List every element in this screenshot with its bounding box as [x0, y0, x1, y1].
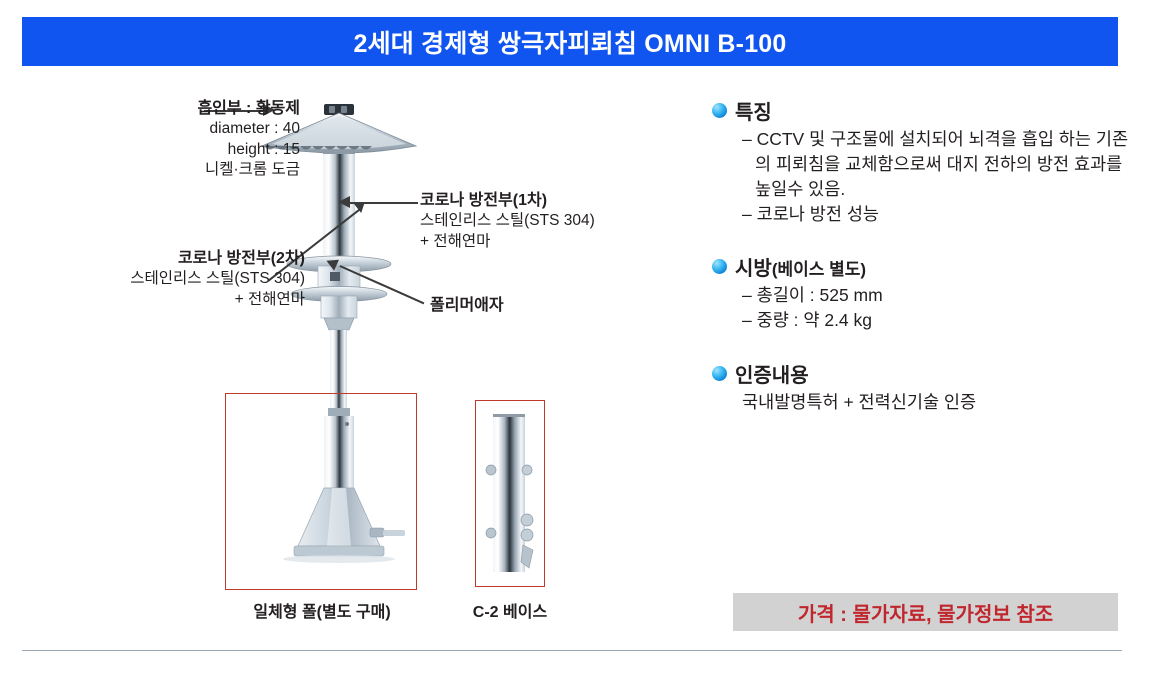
price-text: 가격 : 물가자료, 물가정보 참조: [798, 598, 1053, 627]
page-title-banner: 2세대 경제형 쌍극자피뢰침 OMNI B-100: [22, 17, 1118, 66]
spec-line: – 중량 : 약 2.4 kg: [742, 308, 1132, 333]
annotation-suction-head-line4: 니켈·크롬 도금: [85, 160, 300, 180]
annotation-corona-secondary-line3: + 전해연마: [65, 290, 305, 310]
spec-title-certification: 인증내용: [735, 359, 809, 388]
product-diagram: 흡인부 : 황동제 diameter : 40 height : 15 니켈·크…: [20, 80, 680, 640]
bullet-sphere-icon: [712, 366, 727, 381]
annotation-corona-secondary-lead: 코로나 방전부(2차): [65, 248, 305, 269]
spec-line: – 총길이 : 525 mm: [742, 283, 1132, 308]
bullet-sphere-icon: [712, 103, 727, 118]
arrowhead-corona1: [338, 196, 350, 208]
spec-title-main: 시방: [735, 258, 772, 280]
spec-line: – CCTV 및 구조물에 설치되어 뇌격을 흡입 하는 기존의 피뢰침을 교체…: [742, 127, 1132, 202]
spec-head-features: 특징: [712, 96, 1132, 125]
annotation-suction-head-line2: diameter : 40: [85, 119, 300, 139]
base-highlight-frame: [475, 400, 545, 587]
annotation-corona-primary: 코로나 방전부(1차) 스테인리스 스틸(STS 304) + 전해연마: [420, 190, 660, 252]
spec-column: 특징 – CCTV 및 구조물에 설치되어 뇌격을 흡입 하는 기존의 피뢰침을…: [712, 96, 1132, 441]
pole-highlight-frame: [225, 393, 417, 590]
spec-line: – 코로나 방전 성능: [742, 202, 1132, 227]
spec-title-specifications: 시방(베이스 별도): [735, 252, 866, 281]
annotation-suction-head-line3: height : 15: [85, 140, 300, 160]
leader-line-corona1: [350, 202, 418, 204]
price-banner: 가격 : 물가자료, 물가정보 참조: [733, 593, 1118, 631]
spec-lines-features: – CCTV 및 구조물에 설치되어 뇌격을 흡입 하는 기존의 피뢰침을 교체…: [742, 127, 1132, 226]
spec-block-specifications: 시방(베이스 별도) – 총길이 : 525 mm – 중량 : 약 2.4 k…: [712, 252, 1132, 333]
spec-block-features: 특징 – CCTV 및 구조물에 설치되어 뇌격을 흡입 하는 기존의 피뢰침을…: [712, 96, 1132, 226]
spec-head-certification: 인증내용: [712, 359, 1132, 388]
annotation-polymer-insulator: 폴리머애자: [430, 295, 630, 316]
annotation-corona-secondary-line2: 스테인리스 스틸(STS 304): [65, 269, 305, 289]
spec-head-specifications: 시방(베이스 별도): [712, 252, 1132, 281]
annotation-suction-head-lead: 흡인부 : 황동제: [85, 98, 300, 119]
caption-pole: 일체형 폴(별도 구매): [227, 598, 417, 622]
footer-divider: [22, 650, 1122, 651]
annotation-corona-primary-line2: 스테인리스 스틸(STS 304): [420, 211, 660, 231]
caption-base: C-2 베이스: [445, 598, 575, 622]
annotation-polymer-insulator-lead: 폴리머애자: [430, 295, 630, 316]
page-title: 2세대 경제형 쌍극자피뢰침 OMNI B-100: [353, 24, 786, 60]
annotation-suction-head: 흡인부 : 황동제 diameter : 40 height : 15 니켈·크…: [85, 98, 300, 180]
spec-lines-certification: 국내발명특허 + 전력신기술 인증: [742, 390, 1132, 415]
spec-lines-specifications: – 총길이 : 525 mm – 중량 : 약 2.4 kg: [742, 283, 1132, 333]
spec-title-sub: (베이스 별도): [772, 260, 866, 279]
spec-title-features: 특징: [735, 96, 772, 125]
annotation-corona-secondary: 코로나 방전부(2차) 스테인리스 스틸(STS 304) + 전해연마: [65, 248, 305, 310]
spec-line: 국내발명특허 + 전력신기술 인증: [742, 390, 1132, 415]
annotation-corona-primary-line3: + 전해연마: [420, 232, 660, 252]
bullet-sphere-icon: [712, 259, 727, 274]
annotation-corona-primary-lead: 코로나 방전부(1차): [420, 190, 660, 211]
spec-block-certification: 인증내용 국내발명특허 + 전력신기술 인증: [712, 359, 1132, 415]
